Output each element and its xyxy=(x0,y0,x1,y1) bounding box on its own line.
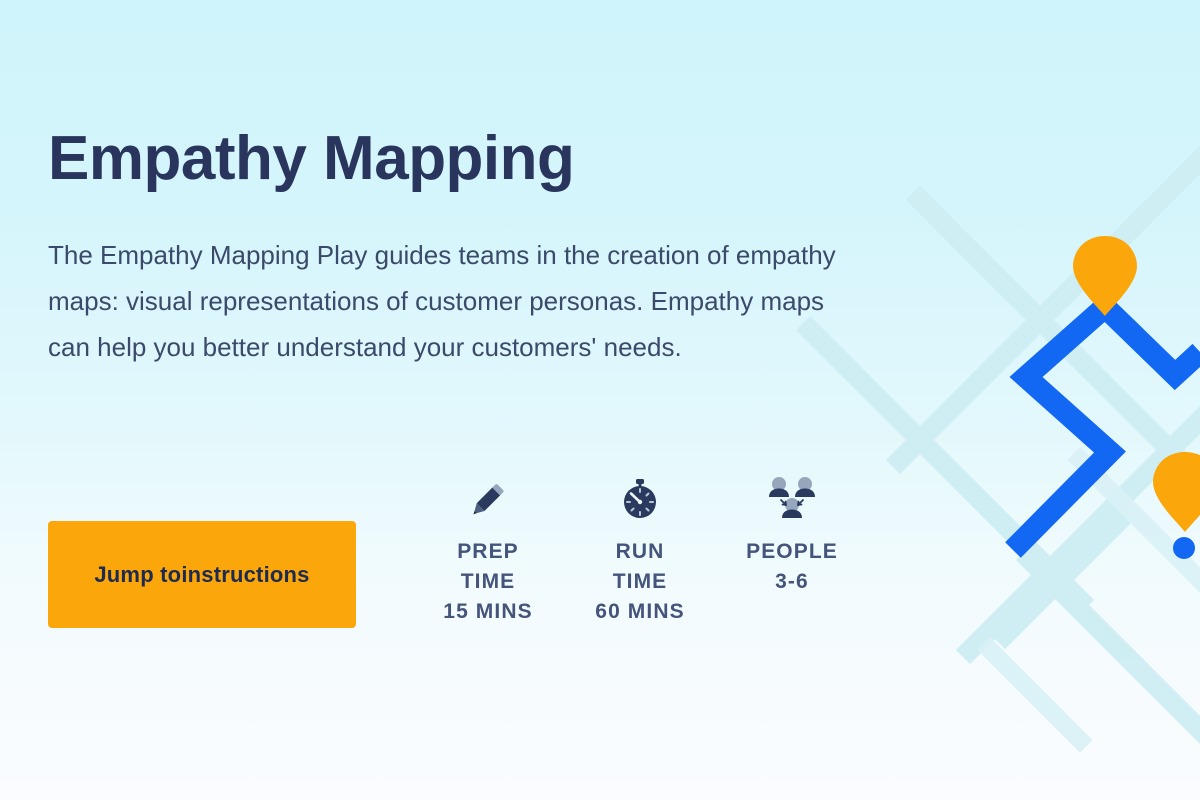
meta-line-2: TIME xyxy=(443,567,532,597)
route-dot xyxy=(1173,537,1195,559)
cta-line-2: instructions xyxy=(181,555,309,595)
map-pin-icon xyxy=(1153,452,1200,532)
people-group-icon xyxy=(767,470,817,528)
meta-item-prep-time: PREP TIME 15 MINS xyxy=(412,470,564,627)
meta-label-prep-time: PREP TIME 15 MINS xyxy=(443,537,532,627)
hero-content: Empathy Mapping The Empathy Mapping Play… xyxy=(48,0,868,800)
meta-label-run-time: RUN TIME 60 MINS xyxy=(595,537,684,627)
map-pin-icon xyxy=(1073,236,1137,316)
meta-line-3: 60 MINS xyxy=(595,597,684,627)
meta-line-2: 3-6 xyxy=(746,567,838,597)
meta-line-3: 15 MINS xyxy=(443,597,532,627)
meta-line-1: PREP xyxy=(443,537,532,567)
meta-line-1: RUN xyxy=(595,537,684,567)
meta-label-people: PEOPLE 3-6 xyxy=(746,537,838,597)
meta-stats-group: PREP TIME 15 MINS xyxy=(412,470,868,627)
hero-section: Empathy Mapping The Empathy Mapping Play… xyxy=(0,0,1200,800)
cta-line-1: Jump to xyxy=(94,555,181,595)
meta-item-run-time: RUN TIME 60 MINS xyxy=(564,470,716,627)
stopwatch-icon xyxy=(617,470,663,528)
meta-line-2: TIME xyxy=(595,567,684,597)
street-lines xyxy=(810,160,1200,730)
jump-to-instructions-button[interactable]: Jump to instructions xyxy=(48,521,356,628)
route-line xyxy=(1013,307,1200,550)
page-title: Empathy Mapping xyxy=(48,126,574,191)
hero-description: The Empathy Mapping Play guides teams in… xyxy=(48,232,838,370)
pencil-icon xyxy=(465,470,511,528)
meta-line-1: PEOPLE xyxy=(746,537,838,567)
meta-item-people: PEOPLE 3-6 xyxy=(716,470,868,597)
